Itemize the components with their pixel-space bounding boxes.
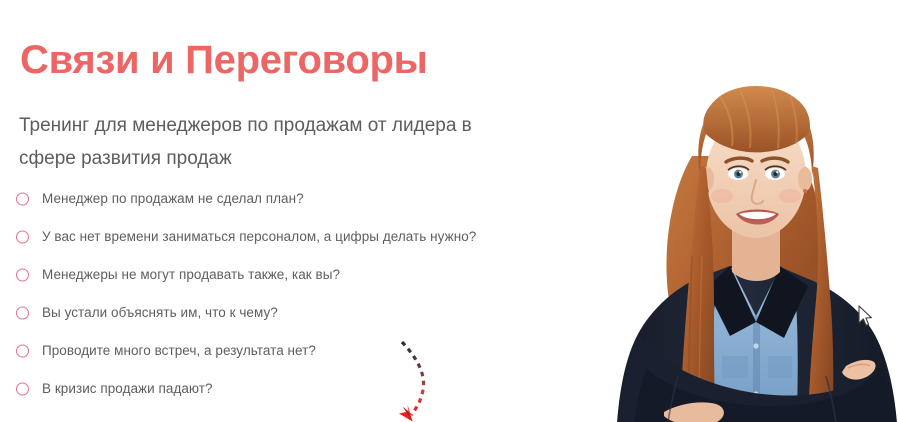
list-item-label: В кризис продажи падают? <box>42 381 213 397</box>
list-item[interactable]: В кризис продажи падают? <box>15 370 555 408</box>
circle-bullet-icon <box>16 231 29 244</box>
circle-bullet-icon <box>16 193 29 206</box>
circle-bullet-icon <box>16 307 29 320</box>
list-item-label: У вас нет времени заниматься персоналом,… <box>42 229 476 245</box>
page-subtitle: Тренинг для менеджеров по продажам от ли… <box>19 109 499 175</box>
list-item[interactable]: У вас нет времени заниматься персоналом,… <box>15 218 555 256</box>
list-item-label: Менеджеры не могут продавать также, как … <box>42 267 340 283</box>
circle-bullet-icon <box>16 345 29 358</box>
list-item[interactable]: Проводите много встреч, а результата нет… <box>15 332 555 370</box>
landing-hero-page: Связи и Переговоры Тренинг для менеджеро… <box>0 0 900 422</box>
pain-point-list: Менеджер по продажам не сделал план? У в… <box>15 180 555 408</box>
hero-text-column: Связи и Переговоры Тренинг для менеджеро… <box>0 0 560 422</box>
list-item-label: Вы устали объяснять им, что к чему? <box>42 305 278 321</box>
page-title: Связи и Переговоры <box>20 36 428 84</box>
circle-bullet-icon <box>16 383 29 396</box>
list-item[interactable]: Вы устали объяснять им, что к чему? <box>15 294 555 332</box>
circle-bullet-icon <box>16 269 29 282</box>
list-item[interactable]: Менеджеры не могут продавать также, как … <box>15 256 555 294</box>
list-item-label: Проводите много встреч, а результата нет… <box>42 343 316 359</box>
presenter-photo <box>580 16 900 422</box>
list-item-label: Менеджер по продажам не сделал план? <box>42 191 304 207</box>
list-item[interactable]: Менеджер по продажам не сделал план? <box>15 180 555 218</box>
